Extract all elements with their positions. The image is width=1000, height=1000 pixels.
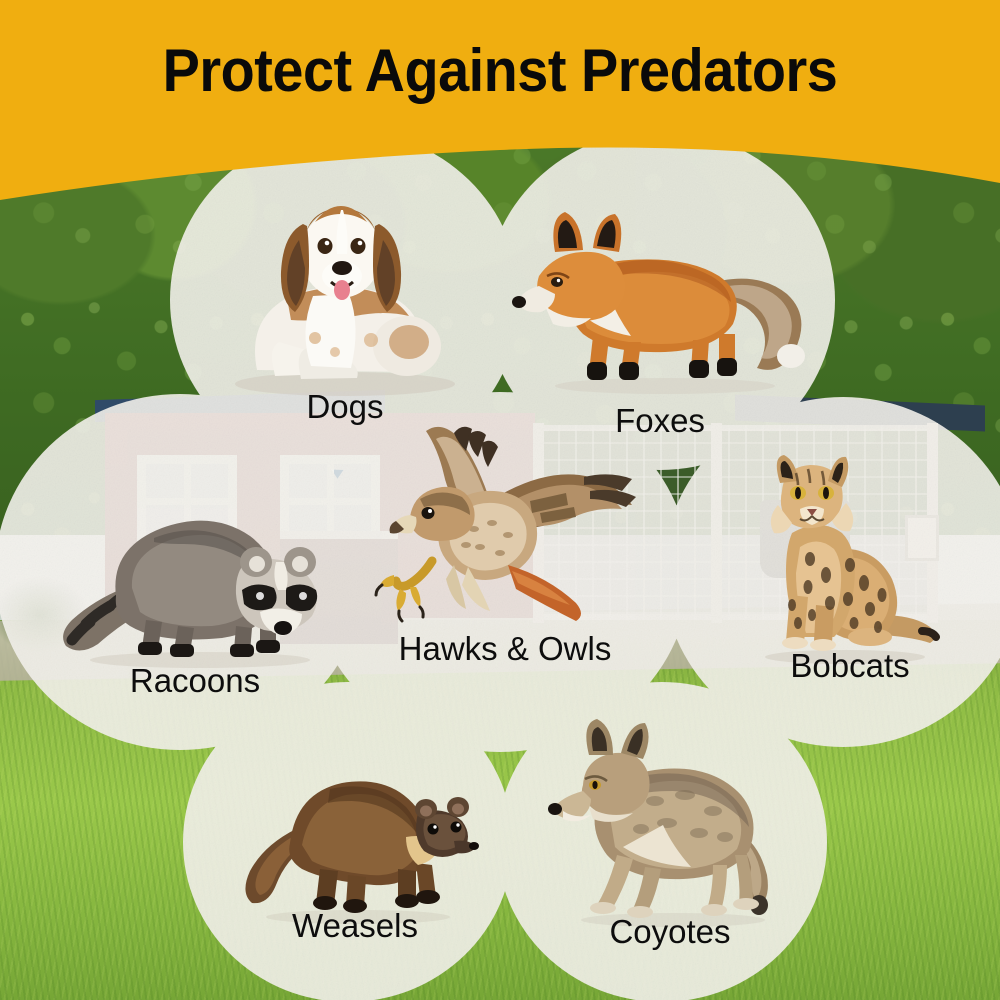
predator-label: Dogs [195, 388, 495, 426]
predator-card-foxes[interactable]: Foxes [505, 190, 815, 440]
predator-label: Weasels [230, 907, 480, 945]
weasel-icon [230, 745, 480, 925]
predator-label: Coyotes [545, 913, 795, 951]
predator-card-racoons[interactable]: Racoons [50, 470, 340, 705]
predator-card-weasels[interactable]: Weasels [230, 745, 480, 960]
dog-icon [195, 170, 495, 400]
predator-label: Bobcats [730, 647, 970, 685]
predator-card-coyotes[interactable]: Coyotes [545, 715, 795, 960]
racoon-icon [50, 470, 340, 670]
bobcat-icon [730, 455, 970, 665]
predator-label: Racoons [50, 662, 340, 700]
predator-poster: Dogs [0, 0, 1000, 1000]
predator-card-bobcats[interactable]: Bobcats [730, 455, 970, 705]
predator-label: Hawks & Owls [370, 630, 640, 668]
predator-card-hawks[interactable]: Hawks & Owls [370, 425, 640, 675]
predator-card-dogs[interactable]: Dogs [195, 170, 495, 435]
coyote-icon [545, 715, 795, 930]
fox-icon [505, 190, 815, 395]
hawk-icon [370, 425, 640, 640]
